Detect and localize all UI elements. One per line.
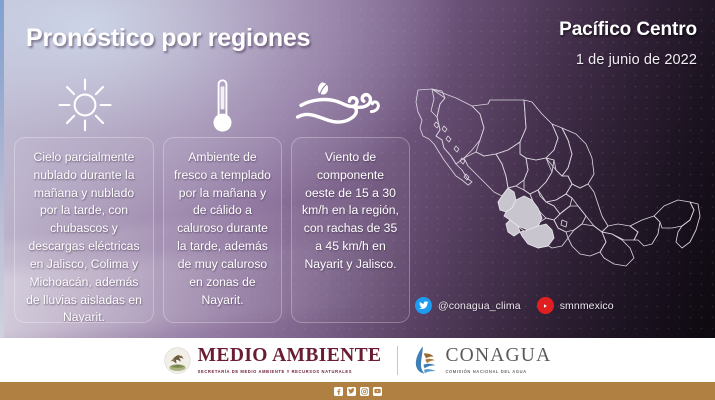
semarnat-text: MEDIO AMBIENTE SECRETARÍA DE MEDIO AMBIE… <box>198 346 382 373</box>
mexico-government-seal-icon <box>164 347 191 374</box>
youtube-icon[interactable] <box>373 387 382 396</box>
twitter-icon[interactable] <box>347 387 356 396</box>
forecast-card-sky: Cielo parcialmente nublado durante la ma… <box>14 137 154 323</box>
forecast-card-sky-text: Cielo parcialmente nublado durante la ma… <box>26 150 142 323</box>
twitter-icon <box>415 297 432 314</box>
semarnat-subtitle: SECRETARÍA DE MEDIO AMBIENTE Y RECURSOS … <box>198 369 382 374</box>
youtube-handle-label: smnmexico <box>560 300 614 312</box>
youtube-handle-item[interactable]: smnmexico <box>537 297 614 314</box>
footer-social-bar <box>0 382 715 400</box>
social-handles-row: @conagua_clima smnmexico <box>415 297 614 314</box>
left-edge-stripe <box>0 0 4 338</box>
mexico-map <box>396 84 706 289</box>
youtube-icon <box>537 297 554 314</box>
conagua-subtitle: COMISIÓN NACIONAL DEL AGUA <box>445 369 551 374</box>
forecast-card-wind-text: Viento de componente oeste de 15 a 30 km… <box>302 150 399 271</box>
weather-forecast-infographic: Pronóstico por regiones Pacífico Centro … <box>0 0 715 400</box>
forecast-date: 1 de junio de 2022 <box>576 52 697 68</box>
forecast-card-temperature: Ambiente de fresco a templado por la mañ… <box>163 137 282 323</box>
conagua-logo: CONAGUA COMISIÓN NACIONAL DEL AGUA <box>414 345 551 375</box>
thermometer-icon <box>206 78 239 134</box>
twitter-handle-label: @conagua_clima <box>438 300 521 312</box>
instagram-icon[interactable] <box>360 387 369 396</box>
sun-icon <box>57 77 113 131</box>
conagua-eagle-water-icon <box>414 345 438 375</box>
semarnat-logo: MEDIO AMBIENTE SECRETARÍA DE MEDIO AMBIE… <box>164 346 382 373</box>
infographic-stage: Pronóstico por regiones Pacífico Centro … <box>0 0 715 338</box>
forecast-card-wind: Viento de componente oeste de 15 a 30 km… <box>291 137 410 323</box>
logo-divider <box>397 346 398 375</box>
conagua-title: CONAGUA <box>445 346 551 366</box>
semarnat-title: MEDIO AMBIENTE <box>198 346 382 366</box>
page-title: Pronóstico por regiones <box>26 24 310 53</box>
footer-logos-bar: MEDIO AMBIENTE SECRETARÍA DE MEDIO AMBIE… <box>0 338 715 382</box>
conagua-text: CONAGUA COMISIÓN NACIONAL DEL AGUA <box>445 346 551 373</box>
region-name: Pacífico Centro <box>559 19 697 41</box>
wind-icon <box>295 80 381 128</box>
facebook-icon[interactable] <box>334 387 343 396</box>
forecast-card-temperature-text: Ambiente de fresco a templado por la mañ… <box>174 150 271 307</box>
twitter-handle-item[interactable]: @conagua_clima <box>415 297 521 314</box>
